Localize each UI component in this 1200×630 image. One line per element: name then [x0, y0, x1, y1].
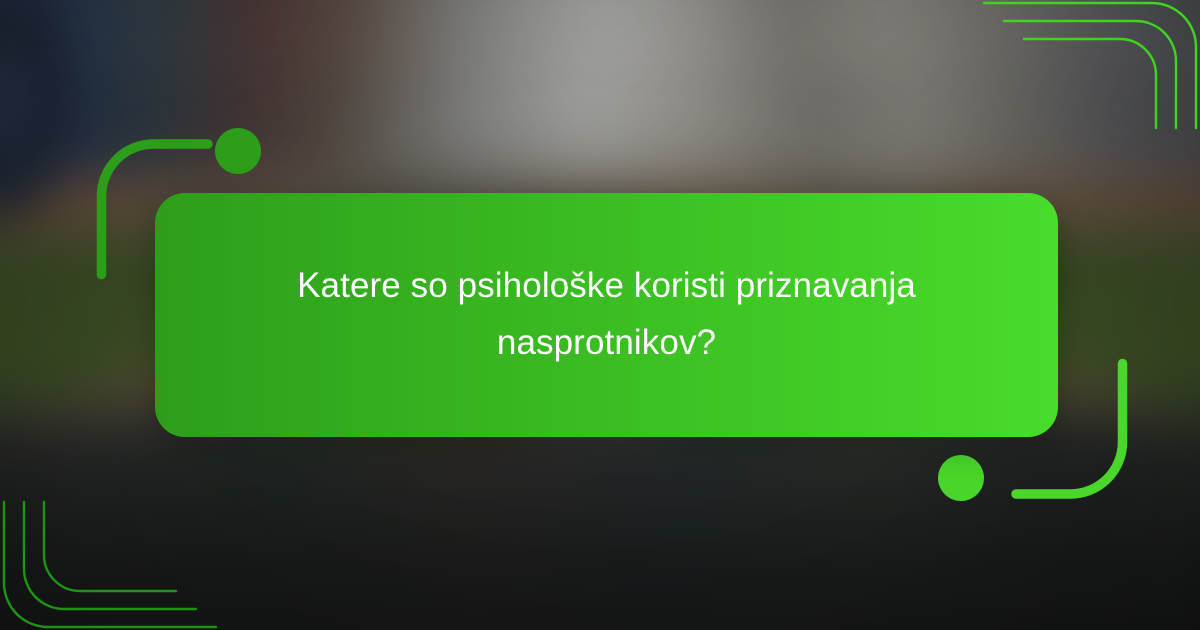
accent-dot-bottom-right [938, 455, 984, 501]
accent-dot-top-left [215, 128, 261, 174]
question-card: Katere so psihološke koristi priznavanja… [155, 193, 1058, 437]
question-text: Katere so psihološke koristi priznavanja… [219, 258, 994, 371]
social-card-canvas: Katere so psihološke koristi priznavanja… [0, 0, 1200, 630]
